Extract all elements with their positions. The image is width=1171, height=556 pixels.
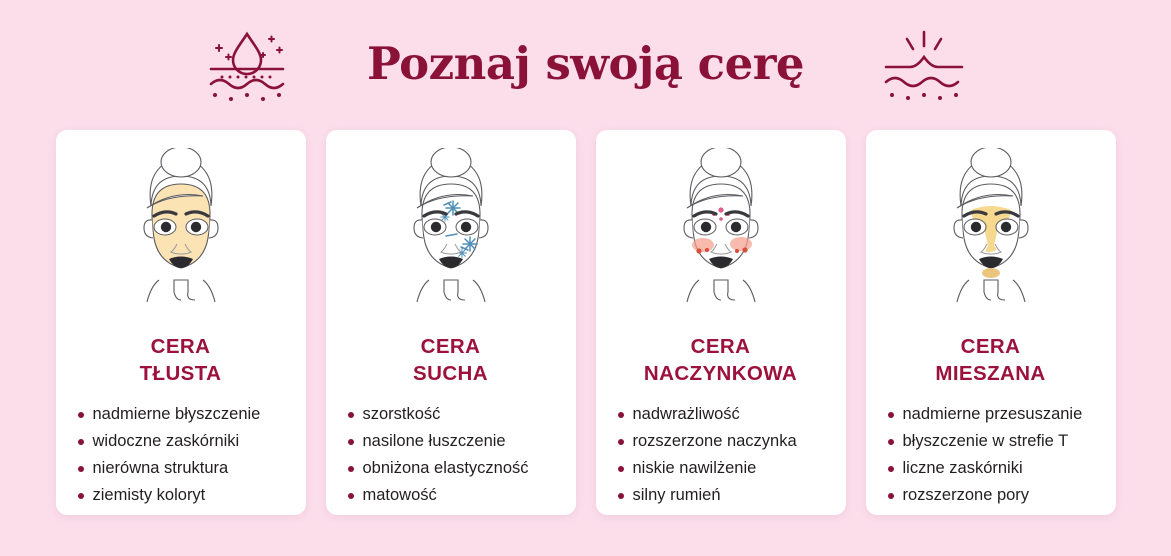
card-title-line1: CERA [56,333,306,360]
list-item: niskie nawilżenie [618,455,846,482]
list-item: nadwrażliwość [618,401,846,428]
list-item: nadmierne przesuszanie [888,401,1116,428]
illustration-face-dry-skin [351,148,551,320]
illustration-face-combination-skin [891,148,1091,320]
card-cera-naczynkowa[interactable]: CERA NACZYNKOWA nadwrażliwość rozszerzon… [596,130,846,515]
illustration-face-oily-skin [81,148,281,320]
list-item: liczne zaskórniki [888,455,1116,482]
list-item: nasilone łuszczenie [348,428,576,455]
skin-type-cards: CERA TŁUSTA nadmierne błyszczenie widocz… [0,130,1171,515]
card-title-cera-mieszana: CERA MIESZANA [866,333,1116,387]
bullet-list-cera-sucha: szorstkość nasilone łuszczenie obniżona … [326,401,576,509]
list-item: nierówna struktura [78,455,306,482]
card-title-line1: CERA [596,333,846,360]
dry-skin-sun-icon [876,22,972,108]
card-title-line2: SUCHA [326,360,576,387]
list-item: ziemisty koloryt [78,482,306,509]
card-title-line1: CERA [326,333,576,360]
illustration-face-couperose-skin [621,148,821,320]
card-title-line2: NACZYNKOWA [596,360,846,387]
card-title-cera-tlusta: CERA TŁUSTA [56,333,306,387]
bullet-list-cera-mieszana: nadmierne przesuszanie błyszczenie w str… [866,401,1116,509]
list-item: obniżona elastyczność [348,455,576,482]
card-title-cera-sucha: CERA SUCHA [326,333,576,387]
card-title-cera-naczynkowa: CERA NACZYNKOWA [596,333,846,387]
face-couperose-skin-svg [621,148,821,320]
card-cera-tlusta[interactable]: CERA TŁUSTA nadmierne błyszczenie widocz… [56,130,306,515]
list-item: szorstkość [348,401,576,428]
list-item: błyszczenie w strefie T [888,428,1116,455]
list-item: nadmierne błyszczenie [78,401,306,428]
face-combination-skin-svg [891,148,1091,320]
card-cera-mieszana[interactable]: CERA MIESZANA nadmierne przesuszanie bły… [866,130,1116,515]
list-item: rozszerzone pory [888,482,1116,509]
bullet-list-cera-tlusta: nadmierne błyszczenie widoczne zaskórnik… [56,401,306,509]
card-title-line2: MIESZANA [866,360,1116,387]
list-item: widoczne zaskórniki [78,428,306,455]
card-cera-sucha[interactable]: CERA SUCHA szorstkość nasilone łuszczeni… [326,130,576,515]
oily-skin-droplet-icon [199,22,295,108]
face-dry-skin-svg [351,148,551,320]
face-oily-skin-svg [81,148,281,320]
list-item: silny rumień [618,482,846,509]
card-title-line1: CERA [866,333,1116,360]
page-header: Poznaj swoją cerę [0,0,1171,130]
card-title-line2: TŁUSTA [56,360,306,387]
page-title: Poznaj swoją cerę [367,41,804,90]
list-item: matowość [348,482,576,509]
bullet-list-cera-naczynkowa: nadwrażliwość rozszerzone naczynka niski… [596,401,846,509]
list-item: rozszerzone naczynka [618,428,846,455]
